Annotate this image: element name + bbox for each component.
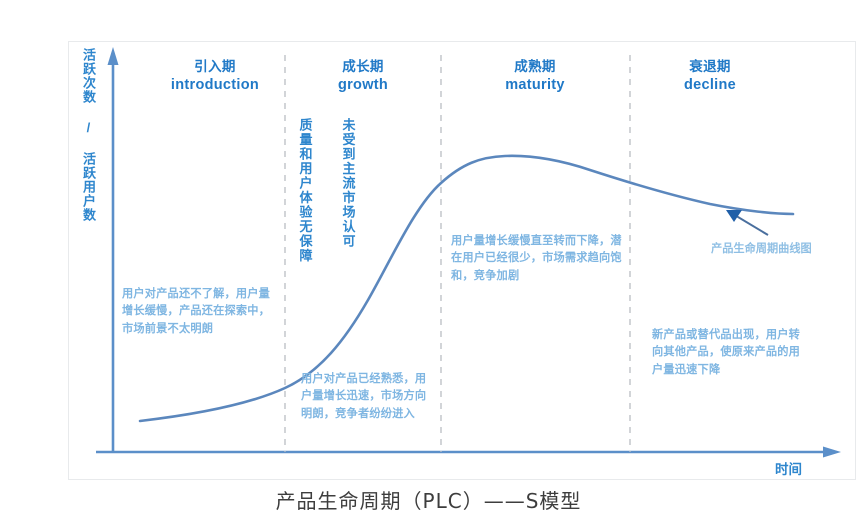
phase-heading-decline: 衰退期 decline <box>640 58 780 95</box>
vertical-note-quality: 质量和用户体验无保障 <box>295 118 313 308</box>
phase-heading-maturity: 成熟期 maturity <box>460 58 610 95</box>
note-growth: 用户对产品已经熟悉，用户量增长迅速，市场方向明朗，竞争者纷纷进入 <box>301 371 429 423</box>
y-axis-label: 活跃次数 / 活跃用户数 <box>78 48 97 222</box>
plc-chart-figure: 活跃次数 / 活跃用户数 时间 引入期 introduction 成长期 gro… <box>0 0 857 521</box>
phase-heading-decline-en: decline <box>640 76 780 95</box>
note-introduction: 用户对产品还不了解，用户量增长缓慢，产品还在探索中，市场前景不太明朗 <box>122 286 272 338</box>
note-maturity: 用户量增长缓慢直至转而下降，潜在用户已经很少，市场需求趋向饱和，竞争加剧 <box>451 233 626 285</box>
phase-heading-growth-en: growth <box>298 76 428 95</box>
x-axis-label: 时间 <box>775 458 802 478</box>
phase-heading-introduction: 引入期 introduction <box>140 58 290 95</box>
phase-heading-maturity-en: maturity <box>460 76 610 95</box>
curve-annotation-label: 产品生命周期曲线图 <box>711 240 812 256</box>
phase-heading-introduction-en: introduction <box>140 76 290 95</box>
phase-heading-decline-cn: 衰退期 <box>640 58 780 76</box>
figure-caption: 产品生命周期（PLC）——S模型 <box>0 485 857 514</box>
vertical-note-mainstream: 未受到主流市场认可 <box>338 118 356 298</box>
phase-heading-growth: 成长期 growth <box>298 58 428 95</box>
phase-heading-introduction-cn: 引入期 <box>140 58 290 76</box>
phase-heading-maturity-cn: 成熟期 <box>460 58 610 76</box>
phase-heading-growth-cn: 成长期 <box>298 58 428 76</box>
note-decline: 新产品或替代品出现，用户转向其他产品，使原来产品的用户量迅速下降 <box>652 327 807 379</box>
